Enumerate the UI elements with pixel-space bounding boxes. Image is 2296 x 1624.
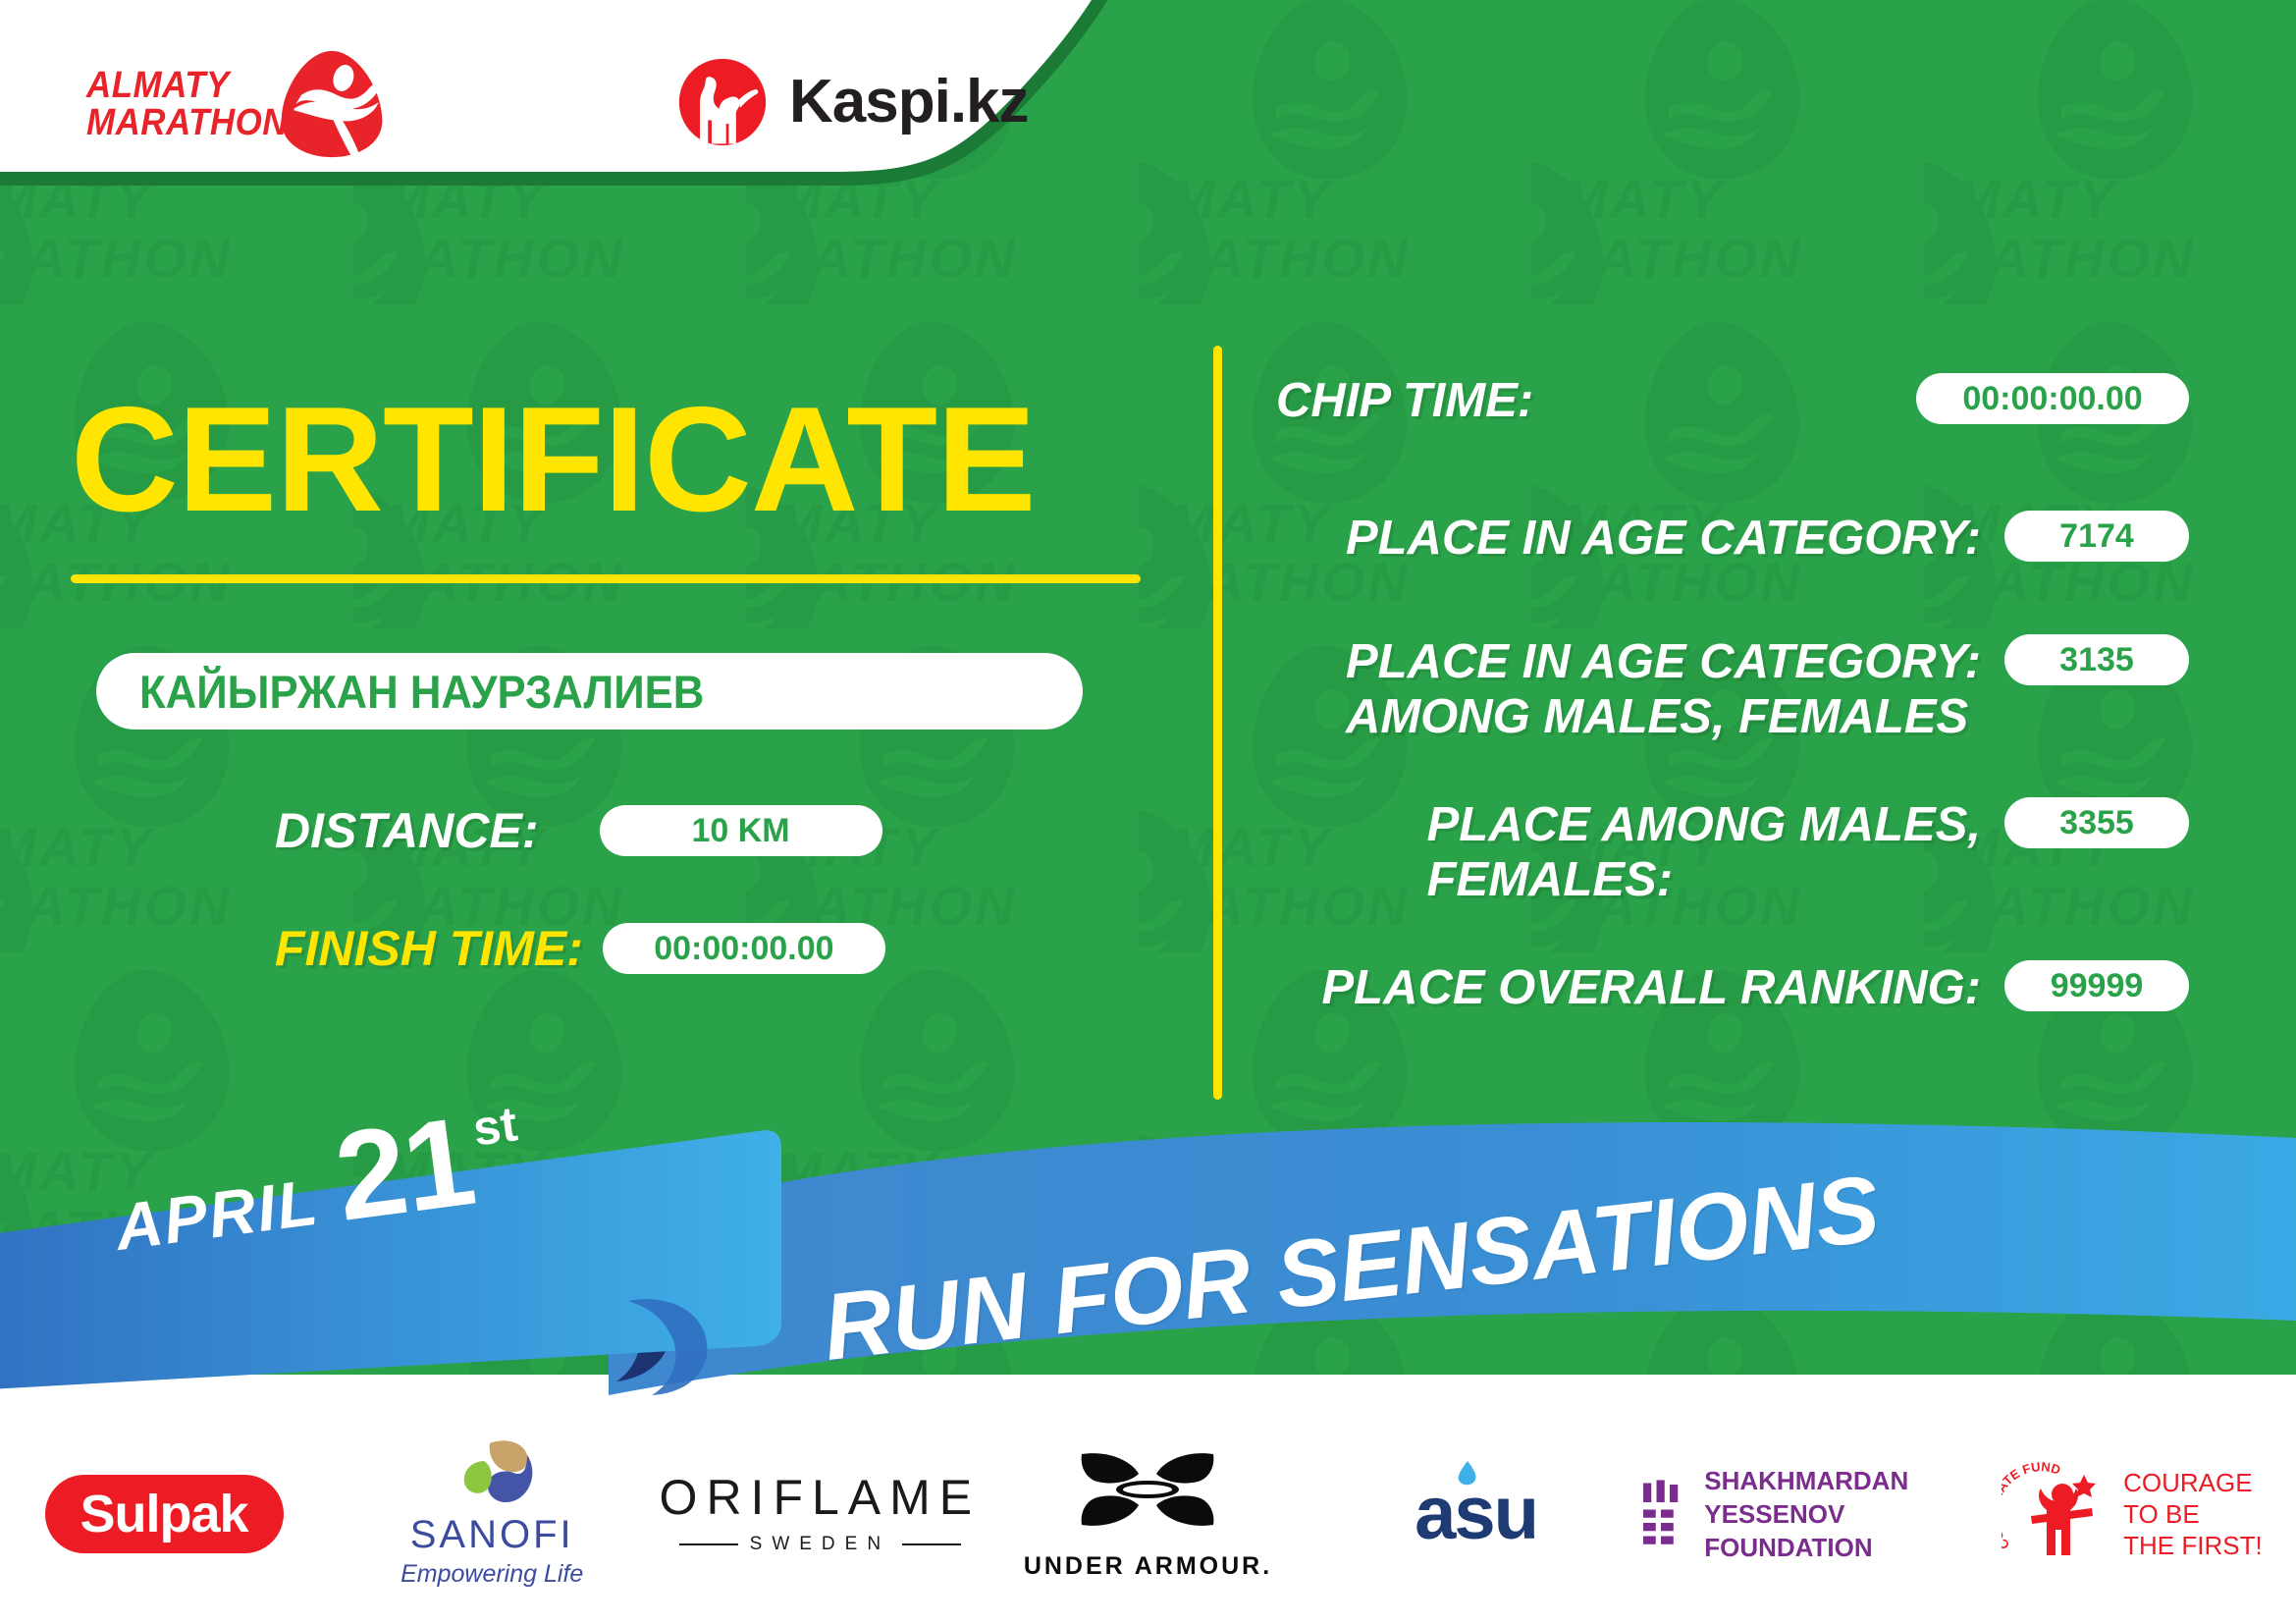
place-among-gender-row: PLACE AMONG MALES, FEMALES: 3355 <box>1276 797 2189 907</box>
courage-line-2: TO BE <box>2123 1498 2263 1530</box>
courage-fund-figure-icon: CORPORATE FUND <box>2002 1461 2111 1567</box>
place-age-category-gender-label: PLACE IN AGE CATEGORY: AMONG MALES, FEMA… <box>1346 634 1981 744</box>
running-figure-teardrop-icon <box>278 49 386 159</box>
asu-wordmark: asu <box>1415 1475 1537 1553</box>
certificate-title: CERTIFICATE <box>71 385 1036 534</box>
sanofi-wordmark: SANOFI <box>400 1513 583 1556</box>
event-month: APRIL <box>112 1168 323 1260</box>
sponsor-sanofi: SANOFI Empowering Life <box>328 1431 656 1597</box>
sponsor-strip: Sulpak SANOFI Empowering Life ORIFLAME S… <box>0 1404 2296 1624</box>
sponsor-oriflame: ORIFLAME SWEDEN <box>656 1431 984 1597</box>
sulpak-logo-text: Sulpak <box>45 1475 284 1553</box>
place-age-category-gender-row: PLACE IN AGE CATEGORY: AMONG MALES, FEMA… <box>1276 634 2189 744</box>
column-divider <box>1213 346 1222 1100</box>
finish-time-label: FINISH TIME: <box>275 924 583 973</box>
almaty-word: ALMATY <box>86 67 258 104</box>
certificate-canvas: ALMATY MARATHON ALMATY MARATHON <box>0 0 2296 1624</box>
distance-row: DISTANCE: 10 KM <box>275 805 882 856</box>
distance-value: 10 KM <box>600 805 882 856</box>
athlete-name-field: КАЙЫРЖАН НАУРЗАЛИЕВ <box>96 653 1083 730</box>
under-armour-mark-icon <box>1074 1448 1221 1539</box>
place-among-gender-label: PLACE AMONG MALES, FEMALES: <box>1427 797 1981 907</box>
oriflame-tagline: SWEDEN <box>750 1532 890 1557</box>
oriflame-rule-left <box>679 1543 738 1545</box>
place-among-gender-value: 3355 <box>2004 797 2189 848</box>
yessenov-bars-icon <box>1640 1469 1683 1559</box>
sponsor-yessenov-foundation: SHAKHMARDAN YESSENOV FOUNDATION <box>1640 1431 1968 1597</box>
place-overall-ranking-row: PLACE OVERALL RANKING: 99999 <box>1276 960 2189 1015</box>
distance-label: DISTANCE: <box>275 806 539 855</box>
sponsor-sulpak: Sulpak <box>0 1431 328 1597</box>
title-underline-rule <box>71 574 1141 583</box>
almaty-marathon-logo: ALMATY MARATHON <box>86 49 391 157</box>
oriflame-wordmark: ORIFLAME <box>660 1471 982 1524</box>
finish-time-row: FINISH TIME: 00:00:00.00 <box>275 923 885 974</box>
oriflame-rule-right <box>902 1543 961 1545</box>
event-day: 21 <box>330 1107 479 1233</box>
kaspi-people-circle-icon <box>677 57 768 147</box>
place-age-category-gender-value: 3135 <box>2004 634 2189 685</box>
sponsor-asu: asu <box>1312 1431 1640 1597</box>
chip-time-row: CHIP TIME: 00:00:00.00 <box>1276 373 2189 428</box>
chip-time-label: CHIP TIME: <box>1276 373 1533 428</box>
courage-line-3: THE FIRST! <box>2123 1530 2263 1561</box>
yessenov-line-2: FOUNDATION <box>1704 1531 1968 1564</box>
kaspi-wordmark: Kaspi.kz <box>789 72 1029 133</box>
kaspi-logo: Kaspi.kz <box>677 57 1029 147</box>
almaty-marathon-wordmark: ALMATY MARATHON <box>86 67 258 141</box>
event-day-ordinal: st <box>470 1099 520 1153</box>
place-age-category-label: PLACE IN AGE CATEGORY: <box>1346 511 1981 566</box>
athlete-name-value: КАЙЫРЖАН НАУРЗАЛИЕВ <box>139 669 704 715</box>
place-overall-ranking-value: 99999 <box>2004 960 2189 1011</box>
sanofi-tagline: Empowering Life <box>400 1558 583 1590</box>
place-age-category-value: 7174 <box>2004 511 2189 562</box>
chip-time-value: 00:00:00.00 <box>1916 373 2189 424</box>
yessenov-line-1: SHAKHMARDAN YESSENOV <box>1704 1464 1968 1531</box>
place-overall-ranking-label: PLACE OVERALL RANKING: <box>1321 960 1981 1015</box>
sponsor-courage-fund: CORPORATE FUND COURAGE TO BE THE FIRST! <box>1968 1431 2296 1597</box>
sanofi-mark-icon <box>445 1439 539 1508</box>
courage-line-1: COURAGE <box>2123 1467 2263 1498</box>
asu-droplet-icon <box>1456 1461 1479 1487</box>
sponsor-under-armour: UNDER ARMOUR. <box>984 1431 1311 1597</box>
place-age-category-row: PLACE IN AGE CATEGORY: 7174 <box>1276 511 2189 566</box>
marathon-word: MARATHON <box>86 104 258 141</box>
under-armour-wordmark: UNDER ARMOUR. <box>1024 1551 1272 1581</box>
finish-time-value: 00:00:00.00 <box>603 923 885 974</box>
